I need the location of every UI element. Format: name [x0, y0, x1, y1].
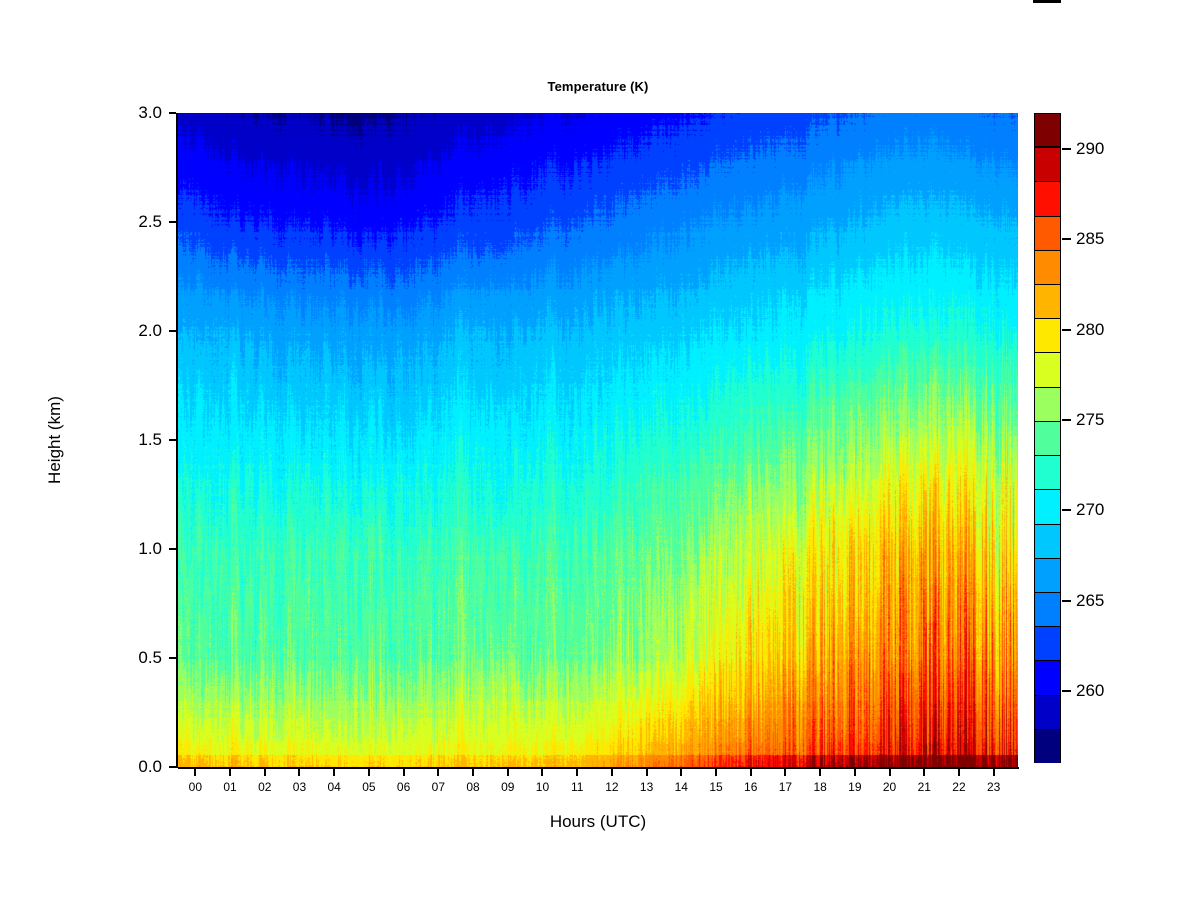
page-title: Temperature (K) — [178, 79, 1018, 94]
colorbar-tick-label: 280 — [1076, 321, 1104, 338]
x-axis-tick — [472, 769, 474, 776]
x-axis-tick — [403, 769, 405, 776]
colorbar-band — [1034, 592, 1061, 626]
x-axis-tick — [333, 769, 335, 776]
colorbar-band — [1034, 181, 1061, 215]
colorbar-band — [1034, 352, 1061, 386]
colorbar-band — [1034, 250, 1061, 284]
y-axis-tick — [169, 766, 176, 768]
colorbar-tick — [1062, 509, 1071, 511]
colorbar-band — [1034, 729, 1061, 763]
x-axis-tick — [264, 769, 266, 776]
temperature-heatmap-panel — [178, 113, 1018, 767]
colorbar-band — [1034, 524, 1061, 558]
y-axis-tick-labels: 0.00.51.01.52.02.53.0 — [100, 0, 162, 900]
colorbar-tick — [1062, 419, 1071, 421]
colorbar-band — [1034, 660, 1061, 694]
colorbar-tick-label: 260 — [1076, 682, 1104, 699]
y-axis-tick — [169, 657, 176, 659]
x-axis-tick-label: 23 — [974, 781, 1014, 793]
colorbar-tick — [1062, 690, 1071, 692]
colorbar-tick-label: 285 — [1076, 230, 1104, 247]
x-axis-tick — [541, 769, 543, 776]
x-axis-tick — [507, 769, 509, 776]
x-axis-tick — [680, 769, 682, 776]
colorbar-band — [1034, 113, 1061, 147]
colorbar-band — [1034, 284, 1061, 318]
x-axis-tick — [993, 769, 995, 776]
y-axis-tick-label: 2.0 — [102, 322, 162, 339]
colorbar-band — [1034, 626, 1061, 660]
colorbar-tick-label: 270 — [1076, 501, 1104, 518]
y-axis-tick — [169, 221, 176, 223]
x-axis-line — [178, 767, 1019, 769]
colorbar-tick-label: 290 — [1076, 140, 1104, 157]
colorbar-band — [1034, 558, 1061, 592]
colorbar-band — [1034, 455, 1061, 489]
x-axis-tick — [437, 769, 439, 776]
x-axis-tick — [750, 769, 752, 776]
y-axis-tick-label: 1.5 — [102, 431, 162, 448]
colorbar-top-tick-artifact — [1033, 0, 1061, 3]
colorbar-tick-label: 275 — [1076, 411, 1104, 428]
y-axis-tick-label: 0.0 — [102, 758, 162, 775]
y-axis-tick-label: 0.5 — [102, 649, 162, 666]
colorbar-band — [1034, 147, 1061, 181]
temperature-field-canvas — [178, 113, 1018, 767]
y-axis-tick — [169, 112, 176, 114]
colorbar-band — [1034, 695, 1061, 729]
colorbar-band — [1034, 216, 1061, 250]
colorbar-band — [1034, 489, 1061, 523]
y-axis-tick — [169, 330, 176, 332]
x-axis-title: Hours (UTC) — [178, 812, 1018, 832]
figure-root: Temperature (K) 0.00.51.01.52.02.53.0 00… — [0, 0, 1200, 900]
colorbar-band — [1034, 318, 1061, 352]
y-axis-tick-label: 1.0 — [102, 540, 162, 557]
x-axis-tick — [784, 769, 786, 776]
x-axis-tick — [298, 769, 300, 776]
x-axis-tick — [646, 769, 648, 776]
x-axis-tick — [368, 769, 370, 776]
x-axis-tick — [819, 769, 821, 776]
colorbar-band — [1034, 387, 1061, 421]
x-axis-tick — [958, 769, 960, 776]
x-axis-tick — [194, 769, 196, 776]
y-axis-line — [176, 113, 178, 768]
y-axis-title: Height (km) — [45, 360, 65, 520]
x-axis-tick — [611, 769, 613, 776]
colorbar-band — [1034, 421, 1061, 455]
y-axis-tick — [169, 548, 176, 550]
colorbar — [1034, 113, 1061, 763]
y-axis-tick — [169, 439, 176, 441]
x-axis-tick — [854, 769, 856, 776]
x-axis-tick — [229, 769, 231, 776]
y-axis-tick-label: 3.0 — [102, 104, 162, 121]
x-axis-tick — [576, 769, 578, 776]
colorbar-tick — [1062, 148, 1071, 150]
y-axis-tick-label: 2.5 — [102, 213, 162, 230]
colorbar-tick — [1062, 600, 1071, 602]
x-axis-tick — [715, 769, 717, 776]
x-axis-tick — [889, 769, 891, 776]
colorbar-tick — [1062, 329, 1071, 331]
colorbar-tick — [1062, 238, 1071, 240]
colorbar-tick-label: 265 — [1076, 592, 1104, 609]
x-axis-tick — [923, 769, 925, 776]
